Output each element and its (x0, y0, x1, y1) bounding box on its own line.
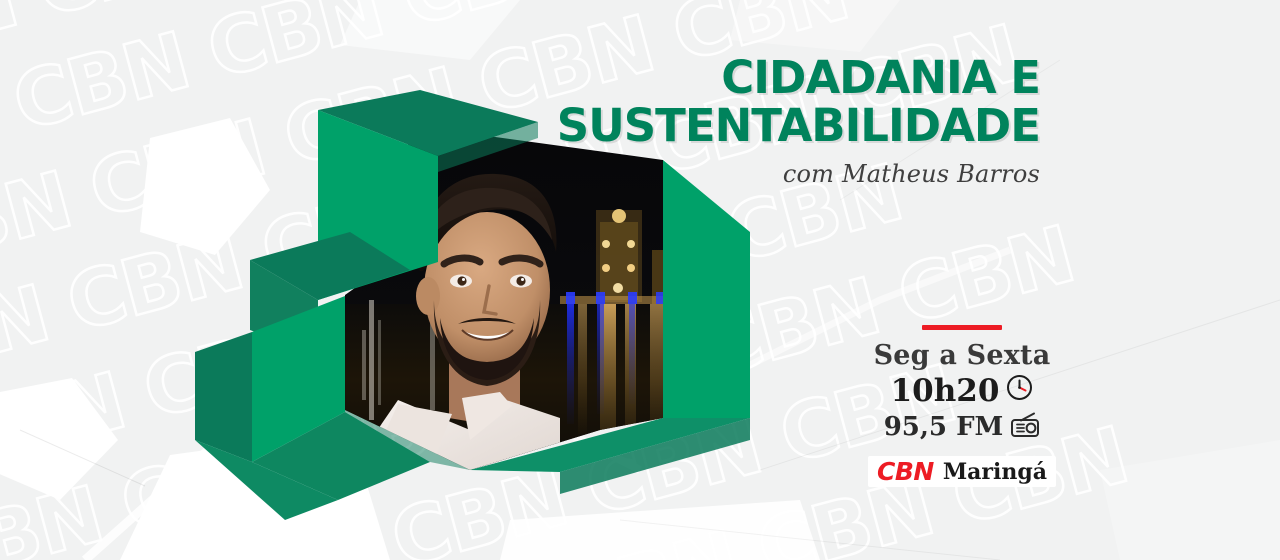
host-credit: com Matheus Barros (280, 160, 1040, 188)
schedule-time-row: 10h20 (862, 374, 1062, 408)
title-line-1: CIDADANIA E (280, 56, 1040, 100)
clock-icon (1006, 374, 1033, 408)
station-city: Maringá (943, 461, 1047, 483)
red-divider (922, 325, 1002, 330)
schedule-frequency-row: 95,5 FM (862, 412, 1062, 444)
cube-face-right-front (663, 160, 750, 418)
schedule-days: Seg a Sexta (862, 342, 1062, 370)
schedule-time: 10h20 (891, 375, 1000, 408)
schedule-frequency: 95,5 FM (884, 414, 1004, 441)
radio-icon (1010, 412, 1040, 444)
cube-face-bottom-left-side (195, 332, 252, 462)
program-banner: CBN CBN CBN CBN CBN CBN CBN CBN CBN CBN … (0, 0, 1280, 560)
title-line-2: SUSTENTABILIDADE (280, 104, 1040, 148)
program-headline: CIDADANIA E SUSTENTABILIDADE com Matheus… (280, 56, 1040, 188)
schedule-info: Seg a Sexta 10h20 95,5 FM (862, 325, 1062, 487)
station-logo: CBN Maringá (868, 456, 1056, 487)
cbn-wordmark: CBN (877, 459, 934, 484)
